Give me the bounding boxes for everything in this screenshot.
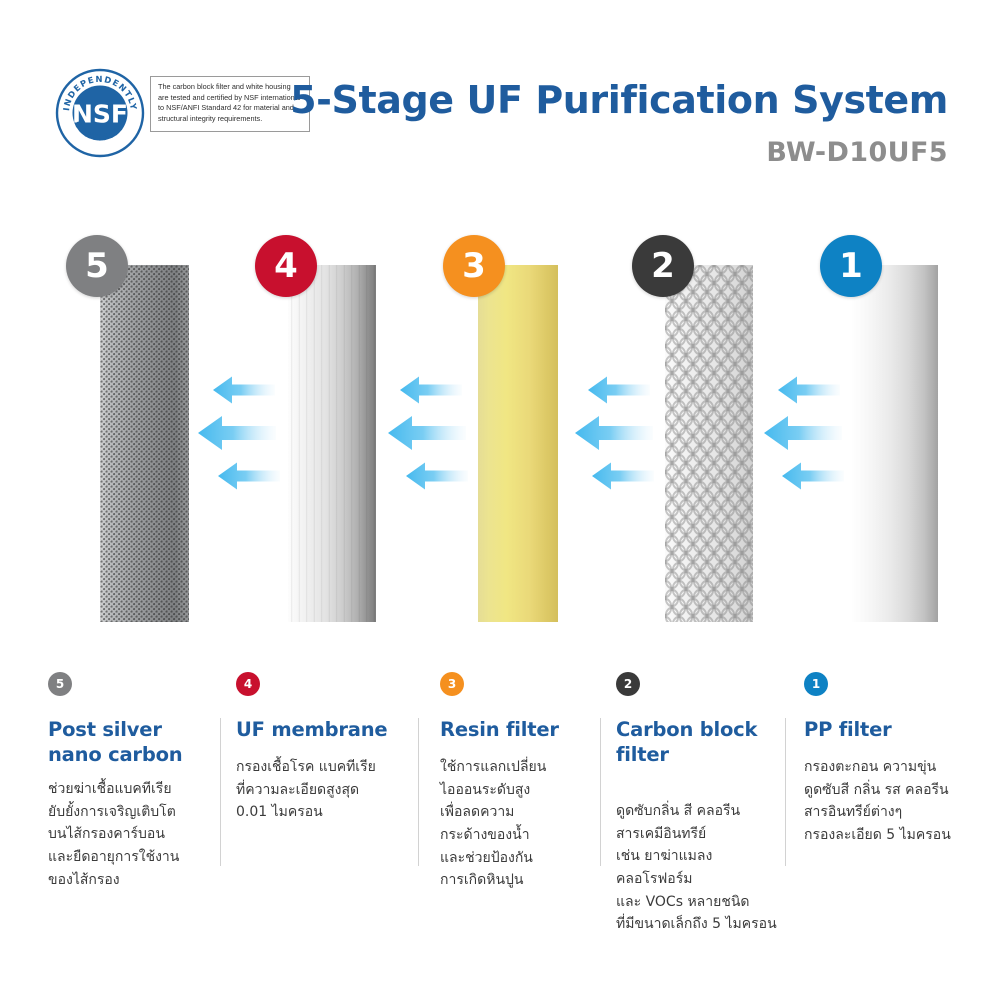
column-divider-1 bbox=[220, 718, 221, 866]
arrow-group-d bbox=[764, 377, 844, 490]
nsf-note-text: The carbon block filter and white housin… bbox=[158, 82, 303, 125]
stage-desc-1: กรองตะกอน ความขุ่น ดูดซับสี กลิ่น รส คลอ… bbox=[804, 756, 951, 847]
stage-badge-3[interactable]: 3 bbox=[443, 235, 505, 297]
stage-badge-2[interactable]: 2 bbox=[632, 235, 694, 297]
stage-badge-5-number: 5 bbox=[85, 249, 109, 283]
stage-badge-3-number: 3 bbox=[462, 249, 486, 283]
header: NSF INDEPENDENTLY CERTIFIED The carbon b… bbox=[0, 0, 1000, 200]
stage-badge-1-number: 1 bbox=[839, 249, 863, 283]
column-divider-3 bbox=[600, 718, 601, 866]
stage-label-badge-5[interactable]: 5 bbox=[48, 672, 72, 696]
stage-title-4: UF membrane bbox=[236, 718, 387, 743]
stage-label-badge-5-number: 5 bbox=[56, 678, 64, 690]
arrow-group-a bbox=[198, 377, 280, 490]
stage-title-5: Post silver nano carbon bbox=[48, 718, 182, 767]
column-divider-4 bbox=[785, 718, 786, 866]
stage-label-badge-4[interactable]: 4 bbox=[236, 672, 260, 696]
stage-title-1: PP filter bbox=[804, 718, 892, 743]
stage-label-badge-1[interactable]: 1 bbox=[804, 672, 828, 696]
column-divider-2 bbox=[418, 718, 419, 866]
arrow-group-b bbox=[388, 377, 468, 490]
stage-desc-4: กรองเชื้อโรค แบคทีเรีย ที่ความละเอียดสูง… bbox=[236, 756, 376, 824]
nsf-certified-logo: NSF INDEPENDENTLY CERTIFIED bbox=[55, 68, 145, 158]
stage-badge-4[interactable]: 4 bbox=[255, 235, 317, 297]
stage-descriptions: 5 Post silver nano carbon ช่วยฆ่าเชื้อแบ… bbox=[0, 660, 1000, 1000]
stage-label-badge-3-number: 3 bbox=[448, 678, 456, 690]
stage-label-badge-1-number: 1 bbox=[812, 678, 820, 690]
stage-label-badge-3[interactable]: 3 bbox=[440, 672, 464, 696]
filter-stage-diagram: 5 4 3 2 1 bbox=[0, 230, 1000, 630]
stage-desc-2: ดูดซับกลิ่น สี คลอรีน สารเคมีอินทรีย์ เช… bbox=[616, 800, 777, 936]
page-title: 5-Stage UF Purification System bbox=[290, 78, 948, 122]
stage-label-badge-2[interactable]: 2 bbox=[616, 672, 640, 696]
stage-badge-2-number: 2 bbox=[651, 249, 675, 283]
stage-desc-3: ใช้การแลกเปลี่ยน ไอออนระดับสูง เพื่อลดคว… bbox=[440, 756, 546, 892]
stage-badge-1[interactable]: 1 bbox=[820, 235, 882, 297]
stage-title-2: Carbon block filter bbox=[616, 718, 757, 767]
stage-badge-5[interactable]: 5 bbox=[66, 235, 128, 297]
stage-label-badge-2-number: 2 bbox=[624, 678, 632, 690]
model-number: BW-D10UF5 bbox=[766, 137, 948, 168]
stage-badge-4-number: 4 bbox=[274, 249, 298, 283]
stage-desc-5: ช่วยฆ่าเชื้อแบคทีเรีย ยับยั้งการเจริญเติ… bbox=[48, 778, 179, 891]
stage-label-badge-4-number: 4 bbox=[244, 678, 252, 690]
stage-title-3: Resin filter bbox=[440, 718, 559, 743]
arrow-group-c bbox=[575, 377, 654, 490]
nsf-certification-note: The carbon block filter and white housin… bbox=[150, 76, 310, 132]
infographic-page: NSF INDEPENDENTLY CERTIFIED The carbon b… bbox=[0, 0, 1000, 1000]
